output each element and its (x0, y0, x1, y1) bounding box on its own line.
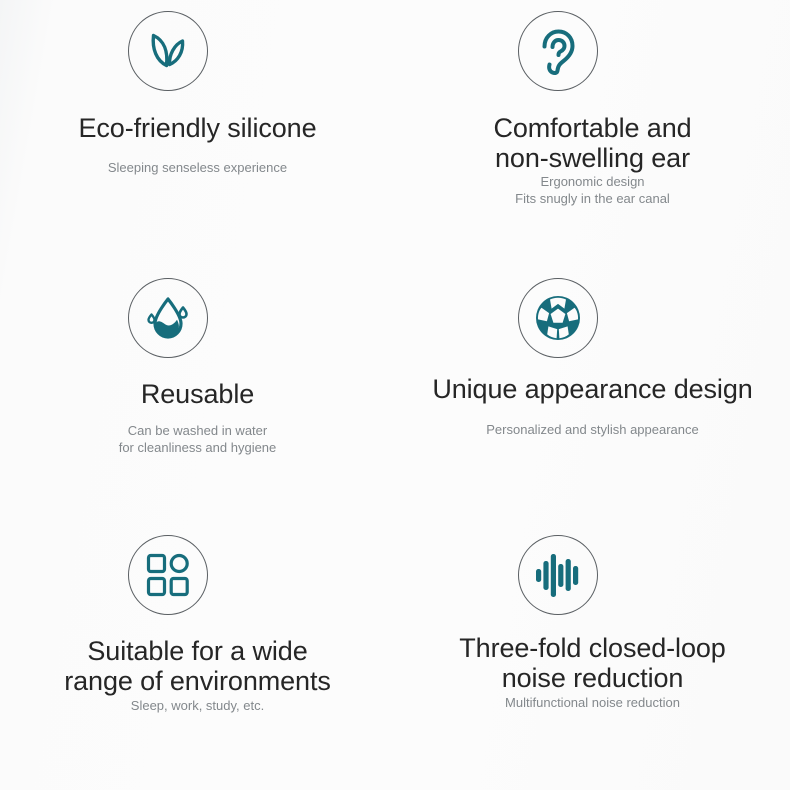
feature-title: Suitable for a wide range of environment… (0, 636, 395, 696)
sound-wave-icon (535, 550, 581, 600)
feature-title: Unique appearance design (395, 374, 790, 404)
feature-subtitle: Can be washed in water for cleanliness a… (0, 422, 395, 456)
feature-subtitle: Sleep, work, study, etc. (0, 697, 395, 714)
feature-card-suitable-wide-range-environments: Suitable for a wide range of environment… (0, 520, 395, 790)
feature-card-three-fold-noise-reduction: Three-fold closed-loop noise reduction M… (395, 520, 790, 790)
feature-title: Three-fold closed-loop noise reduction (395, 633, 790, 693)
icon-badge (128, 278, 208, 358)
feature-title: Reusable (0, 379, 395, 409)
icon-badge (518, 535, 598, 615)
feature-card-comfortable-non-swelling-ear: Comfortable and non-swelling ear Ergonom… (395, 0, 790, 265)
feature-title: Comfortable and non-swelling ear (395, 113, 790, 173)
feature-card-eco-friendly-silicone: Eco-friendly silicone Sleeping senseless… (0, 0, 395, 265)
soccer-ball-icon (534, 294, 582, 342)
icon-badge (518, 278, 598, 358)
feature-grid: Eco-friendly silicone Sleeping senseless… (0, 0, 790, 790)
leaf-icon (145, 28, 191, 74)
feature-subtitle: Ergonomic design Fits snugly in the ear … (395, 173, 790, 207)
water-droplet-icon (144, 295, 192, 341)
feature-subtitle: Multifunctional noise reduction (395, 694, 790, 711)
feature-title: Eco-friendly silicone (0, 113, 395, 143)
icon-badge (128, 535, 208, 615)
ear-icon (536, 28, 580, 74)
feature-subtitle: Sleeping senseless experience (0, 159, 395, 176)
feature-subtitle: Personalized and stylish appearance (395, 421, 790, 438)
grid-shapes-icon (146, 553, 190, 597)
feature-card-reusable: Reusable Can be washed in water for clea… (0, 265, 395, 520)
icon-badge (128, 11, 208, 91)
icon-badge (518, 11, 598, 91)
feature-card-unique-appearance-design: Unique appearance design Personalized an… (395, 265, 790, 520)
